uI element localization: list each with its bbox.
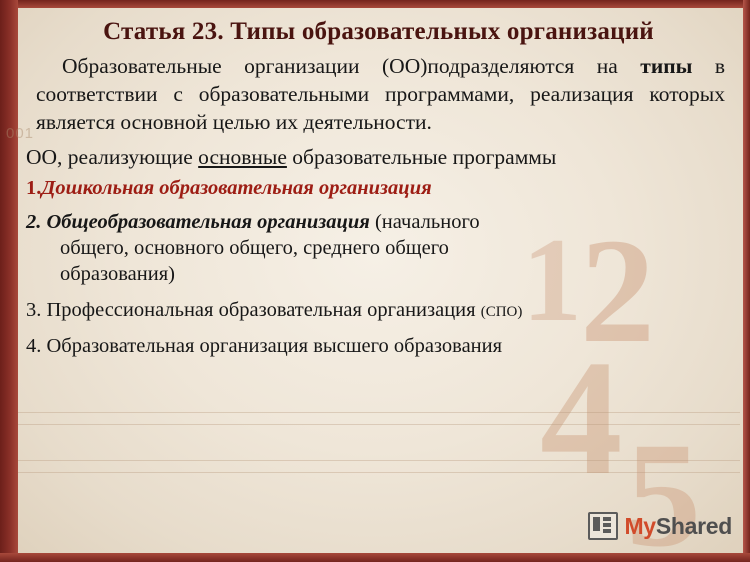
list-item-3-text: Профессиональная образовательная организ… xyxy=(47,299,476,321)
slide-title: Статья 23. Типы образовательных организа… xyxy=(50,18,707,47)
list-item-2-tail-line2: общего, основного общего, среднего общег… xyxy=(60,235,731,261)
list-item-1-text: Дошкольная образовательная организация xyxy=(41,177,431,199)
slide-canvas: 001 1 2 4 5 Статья 23. Типы образователь… xyxy=(0,0,750,562)
list-item-3-number: 3. xyxy=(26,299,41,321)
list-item-2-tail-line3: образования) xyxy=(60,261,731,287)
list-item-4-text: Образовательная организация высшего обра… xyxy=(47,335,503,357)
intro-paragraph-bold: типы xyxy=(640,54,692,78)
watermark-text: MyShared xyxy=(624,513,732,540)
presentation-icon xyxy=(588,512,618,540)
list-item-2-number: 2. xyxy=(26,211,41,233)
myshared-watermark: MyShared xyxy=(588,512,732,540)
main-programs-before: ОО, реализующие xyxy=(26,145,198,169)
frame-band-bottom xyxy=(0,553,750,562)
list-item-4-number: 4. xyxy=(26,335,41,357)
frame-band-top xyxy=(0,0,750,8)
list-item-3-suffix: (СПО) xyxy=(481,304,523,320)
list-item-1: 1.Дошкольная образовательная организация xyxy=(26,177,731,200)
list-item-2: 2. Общеобразовательная организация (нача… xyxy=(26,209,731,288)
slide-content: Статья 23. Типы образовательных организа… xyxy=(18,8,743,553)
list-item-1-number: 1. xyxy=(26,177,41,199)
intro-paragraph-before: Образовательные организации (ОО)подразде… xyxy=(62,54,640,78)
main-programs-line: ОО, реализующие основные образовательные… xyxy=(26,143,731,171)
watermark-text-suffix: Shared xyxy=(656,513,732,539)
list-item-3: 3. Профессиональная образовательная орга… xyxy=(26,299,731,322)
list-item-4: 4. Образовательная организация высшего о… xyxy=(26,335,731,358)
main-programs-after: образовательные программы xyxy=(287,145,556,169)
list-item-2-lead: Общеобразовательная организация xyxy=(47,211,370,233)
watermark-text-prefix: My xyxy=(624,513,655,539)
main-programs-underlined: основные xyxy=(198,145,287,169)
frame-band-right xyxy=(743,0,750,562)
frame-band-left xyxy=(0,0,18,562)
intro-paragraph: Образовательные организации (ОО)подразде… xyxy=(36,53,725,137)
list-item-2-tail-line1: (начального xyxy=(370,211,480,233)
